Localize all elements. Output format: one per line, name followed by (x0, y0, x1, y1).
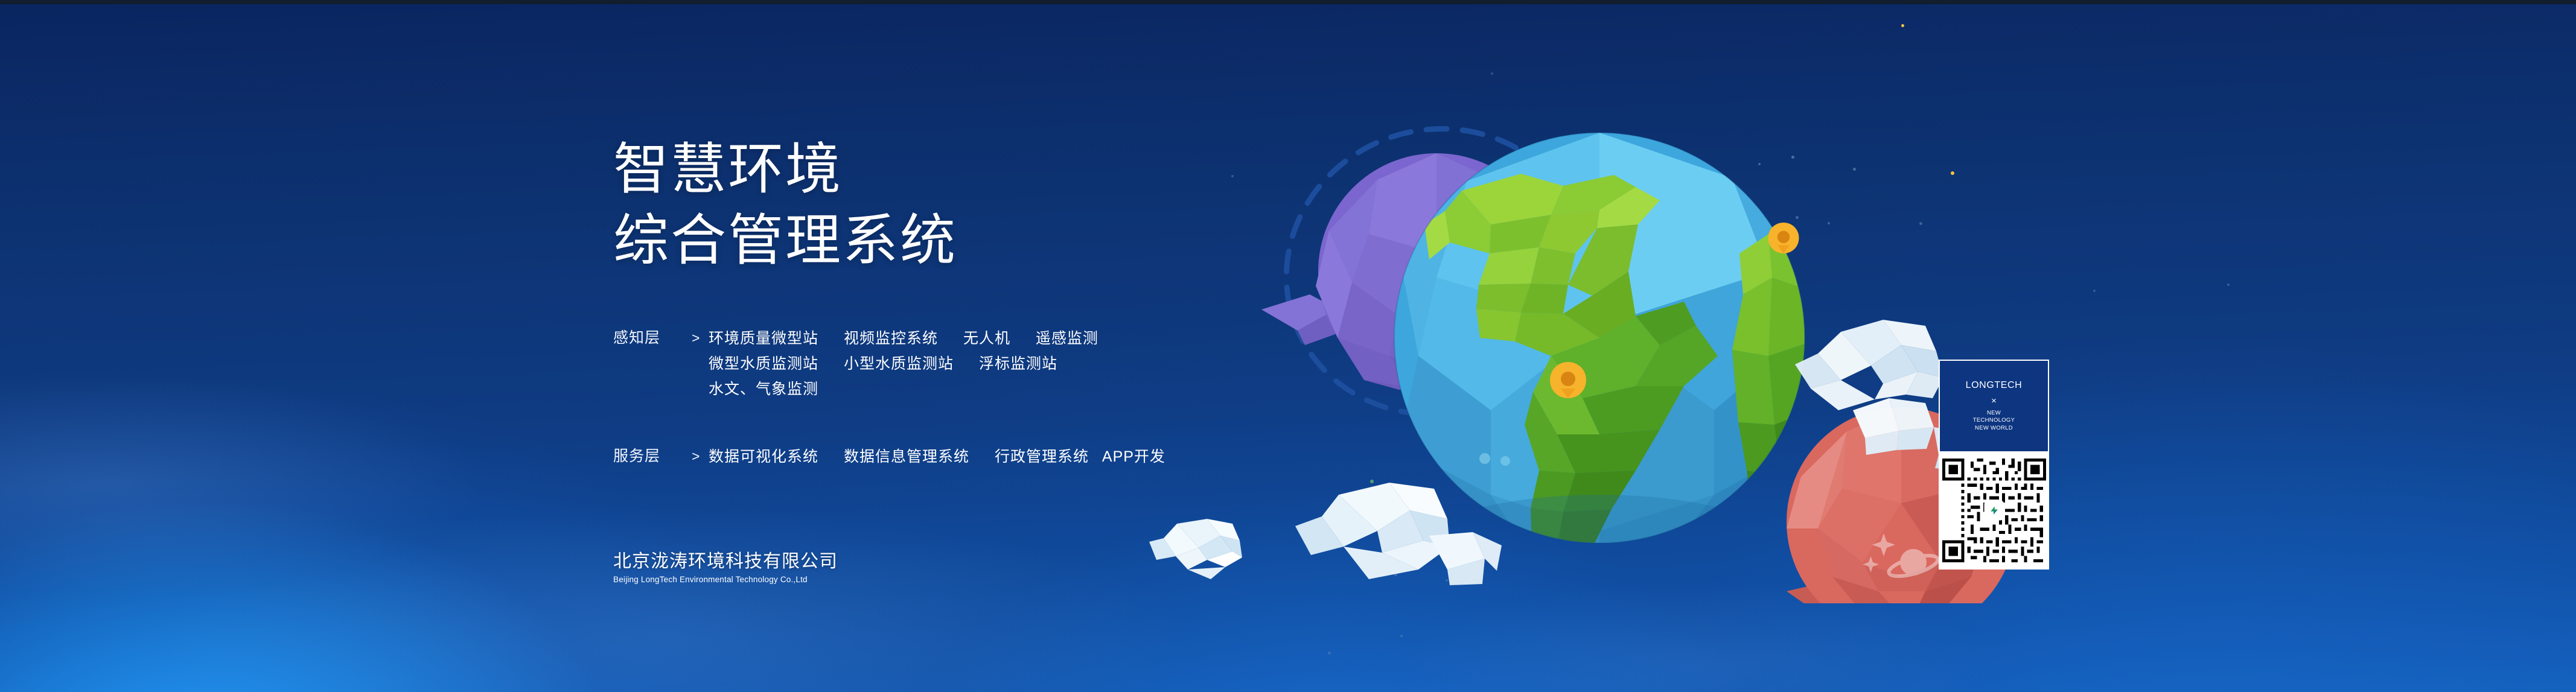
layer-label-service: 服务层 (613, 444, 692, 468)
layer-line: 微型水质监测站 小型水质监测站 浮标监测站 (709, 351, 1337, 376)
layer-list: 感知层 > 环境质量微型站 视频监控系统 无人机 遥感监测 微型水质监测站 小型… (613, 326, 1337, 469)
qr-code-panel[interactable] (1939, 451, 2049, 570)
chevron-right-icon: > (692, 326, 709, 350)
layer-line: 水文、气象监测 (709, 376, 1337, 402)
layer-item[interactable]: 水文、气象监测 (709, 376, 818, 402)
headline-line-1: 智慧环境 (613, 134, 1337, 205)
qr-brand-name: LONGTECH (1966, 380, 2023, 391)
layer-items-service: 数据可视化系统 数据信息管理系统 行政管理系统 APP开发 (709, 444, 1337, 469)
layer-item[interactable]: 无人机 (963, 326, 1010, 351)
layer-item[interactable]: 遥感监测 (1036, 326, 1098, 351)
top-edge-strip (0, 0, 2576, 4)
layer-item[interactable]: 微型水质监测站 (709, 351, 818, 376)
map-pin-icon (1550, 362, 1586, 398)
cloud-small-bottom (1141, 512, 1267, 590)
layer-row-perception: 感知层 > 环境质量微型站 视频监控系统 无人机 遥感监测 微型水质监测站 小型… (613, 326, 1337, 402)
hero-copy: 智慧环境 综合管理系统 感知层 > 环境质量微型站 视频监控系统 无人机 遥感监… (613, 134, 1337, 469)
qr-promo-card[interactable]: LONGTECH × NEW TECHNOLOGY NEW WORLD (1939, 360, 2049, 570)
layer-line: 环境质量微型站 视频监控系统 无人机 遥感监测 (709, 326, 1337, 351)
layer-item[interactable]: 环境质量微型站 (709, 326, 818, 351)
qr-separator: × (1991, 396, 1997, 406)
layer-row-service: 服务层 > 数据可视化系统 数据信息管理系统 行政管理系统 APP开发 (613, 444, 1337, 469)
headline-line-2: 综合管理系统 (613, 205, 1337, 276)
layer-item[interactable]: 浮标监测站 (979, 351, 1057, 376)
layer-item[interactable]: APP开发 (1102, 444, 1165, 469)
layer-item[interactable]: 行政管理系统 (995, 444, 1089, 469)
company-name-cn: 北京泷涛环境科技有限公司 (613, 550, 838, 573)
qr-tagline-line-1: NEW (1973, 410, 2015, 417)
layer-label-perception: 感知层 (613, 326, 692, 350)
layer-item[interactable]: 视频监控系统 (844, 326, 938, 351)
company-name-en: Beijing LongTech Environmental Technolog… (613, 574, 838, 585)
layer-item[interactable]: 小型水质监测站 (844, 351, 954, 376)
layer-line: 数据可视化系统 数据信息管理系统 行政管理系统 APP开发 (709, 444, 1337, 469)
layer-item[interactable]: 数据信息管理系统 (844, 444, 969, 469)
qr-center-logo-icon (1985, 501, 2003, 519)
qr-card-header: LONGTECH × NEW TECHNOLOGY NEW WORLD (1939, 360, 2049, 451)
layer-item[interactable]: 数据可视化系统 (709, 444, 818, 469)
map-pin-icon (1768, 223, 1799, 253)
layer-items-perception: 环境质量微型站 视频监控系统 无人机 遥感监测 微型水质监测站 小型水质监测站 … (709, 326, 1337, 402)
qr-tagline-line-2: TECHNOLOGY (1973, 417, 2015, 425)
qr-tagline-line-3: NEW WORLD (1973, 425, 2015, 433)
qr-tagline: NEW TECHNOLOGY NEW WORLD (1973, 410, 2015, 433)
company-signature: 北京泷涛环境科技有限公司 Beijing LongTech Environmen… (613, 550, 838, 585)
chevron-right-icon: > (692, 444, 709, 468)
hero-banner: 智慧环境 综合管理系统 感知层 > 环境质量微型站 视频监控系统 无人机 遥感监… (0, 0, 2576, 692)
